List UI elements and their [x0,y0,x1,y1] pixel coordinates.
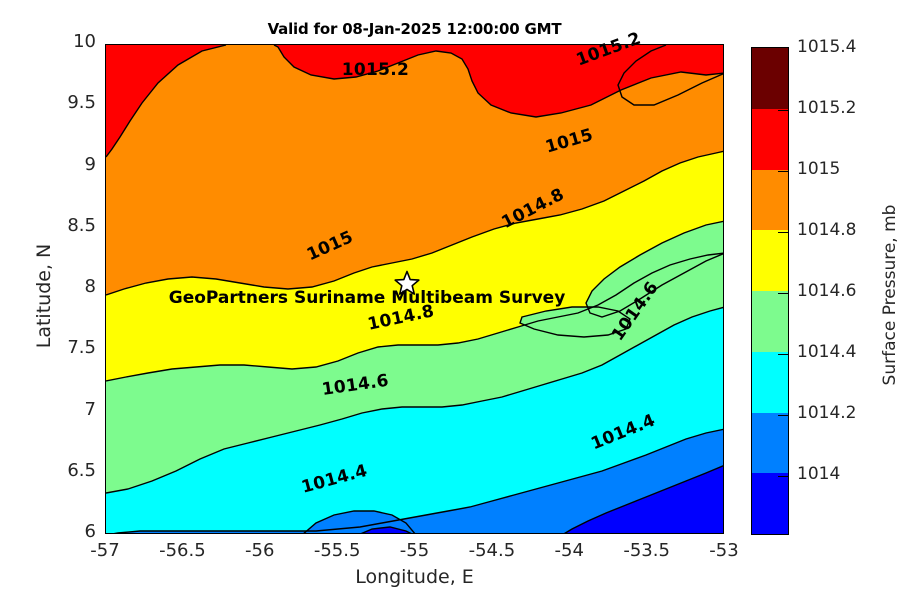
x-tick-label: -53.5 [607,540,687,561]
colorbar-tick-label: 1014.6 [797,281,856,301]
y-tick-label: 6.5 [26,460,96,481]
y-axis-title: Latitude, N [33,166,55,426]
figure-canvas: Valid for 08-Jan-2025 12:00:00 GMT [0,0,900,600]
colorbar-tick-mark [778,110,788,111]
colorbar-tick-label: 1015 [797,159,840,179]
x-tick-label: -54 [529,540,609,561]
x-tick-label: -55.5 [297,540,377,561]
colorbar-tick-label: 1015.2 [797,98,856,118]
colorbar-tick-label: 1014.2 [797,403,856,423]
colorbar-segment [752,170,788,231]
x-tick-label: -53 [684,540,764,561]
colorbar-tick-mark [778,232,788,233]
colorbar-tick-mark [778,293,788,294]
x-tick-label: -57 [65,540,145,561]
y-tick-label: 6 [26,521,96,542]
colorbar-tick-label: 1014 [797,464,840,484]
colorbar-tick-label: 1015.4 [797,37,856,57]
x-tick-label: -54.5 [452,540,532,561]
x-axis-title: Longitude, E [105,566,724,588]
colorbar-tick-mark [778,476,788,477]
site-annotation-label: GeoPartners Suriname Multibeam Survey [169,288,566,308]
colorbar-segment [752,413,788,474]
colorbar-segment [752,352,788,413]
y-tick-label: 9.5 [26,92,96,113]
x-tick-label: -56.5 [142,540,222,561]
x-tick-label: -55 [375,540,455,561]
colorbar[interactable] [751,47,789,535]
contour-value-label: 1015.2 [342,60,409,80]
colorbar-segment [752,291,788,352]
colorbar-segment [752,48,788,109]
colorbar-segment [752,109,788,170]
colorbar-tick-label: 1014.4 [797,342,856,362]
colorbar-segment [752,473,788,534]
colorbar-tick-mark [778,171,788,172]
x-tick-label: -56 [220,540,300,561]
colorbar-tick-mark [778,415,788,416]
colorbar-title: Surface Pressure, mb [880,165,900,425]
y-tick-label: 10 [26,31,96,52]
colorbar-tick-mark [778,354,788,355]
colorbar-tick-label: 1014.8 [797,220,856,240]
colorbar-segment [752,230,788,291]
